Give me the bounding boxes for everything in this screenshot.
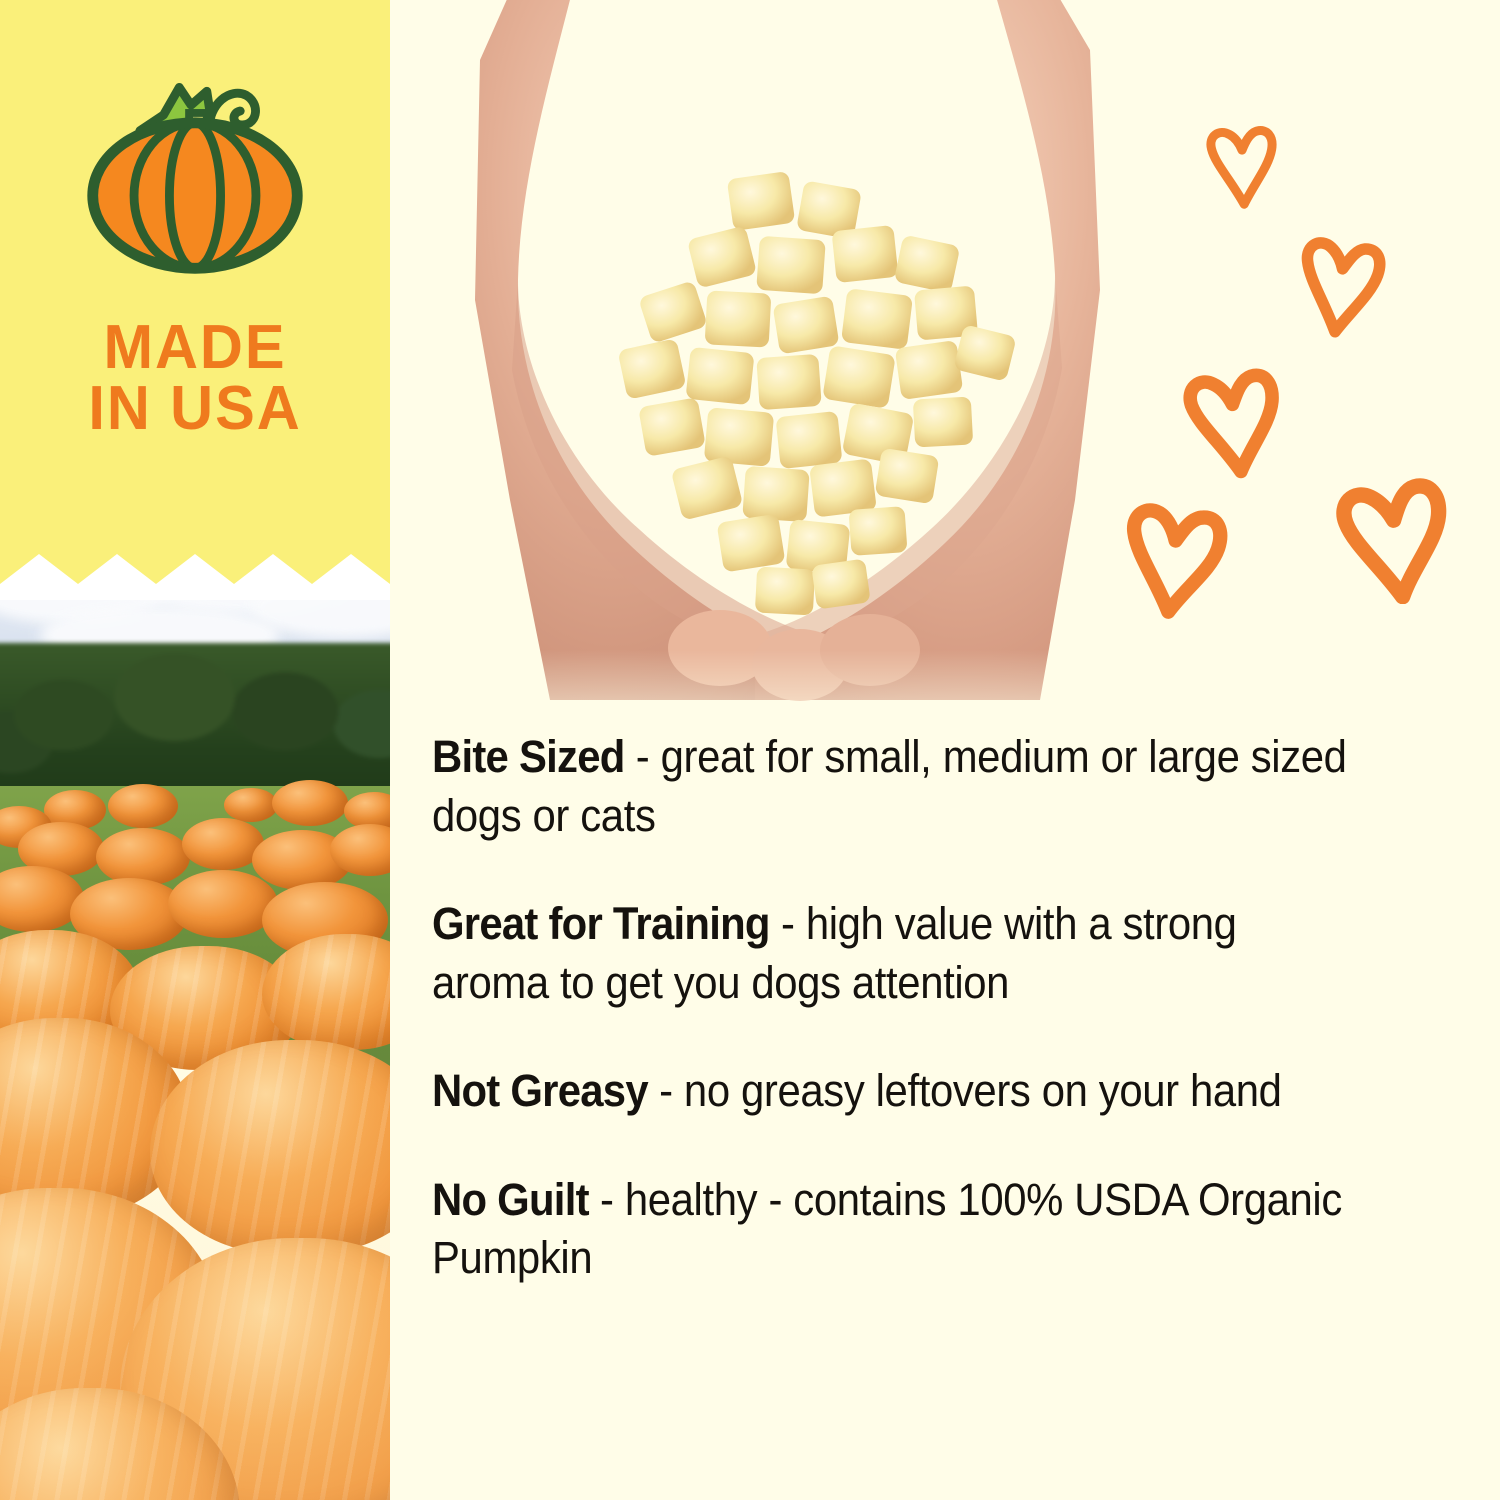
zigzag-divider — [0, 550, 390, 600]
bullet-item: No Guilt - healthy - contains 100% USDA … — [432, 1171, 1362, 1288]
heart-icon — [1292, 230, 1388, 338]
heart-icon — [1336, 472, 1454, 604]
bullet-rest: - no greasy leftovers on your hand — [648, 1065, 1282, 1116]
heart-decorations — [1110, 100, 1500, 680]
pumpkin — [96, 828, 190, 886]
product-feature-graphic: MADE IN USA — [0, 0, 1500, 1500]
bullet-lead: No Guilt — [432, 1174, 589, 1225]
hands-illustration — [400, 0, 1160, 710]
pumpkin — [108, 784, 178, 828]
pumpkin-icon — [77, 52, 313, 288]
pumpkin — [150, 1040, 390, 1255]
heart-icon — [1118, 496, 1228, 620]
hands-with-treats-photo — [400, 0, 1160, 710]
bullet-lead: Great for Training — [432, 898, 770, 949]
made-in-usa-badge: MADE IN USA — [0, 0, 390, 600]
badge-line-1: MADE — [8, 318, 382, 379]
bullet-item: Great for Training - high value with a s… — [432, 895, 1362, 1012]
badge-line-2: IN USA — [8, 379, 382, 440]
pumpkin — [168, 870, 278, 938]
pumpkin-patch-photo — [0, 548, 390, 1500]
bullet-lead: Bite Sized — [432, 731, 625, 782]
pumpkin — [224, 788, 278, 822]
bullet-item: Bite Sized - great for small, medium or … — [432, 728, 1362, 845]
badge-text: MADE IN USA — [8, 318, 382, 440]
bullet-item: Not Greasy - no greasy leftovers on your… — [432, 1062, 1362, 1121]
left-column: MADE IN USA — [0, 0, 390, 1500]
heart-icon — [1202, 118, 1284, 210]
feature-bullet-list: Bite Sized - great for small, medium or … — [432, 728, 1432, 1288]
pumpkin — [272, 780, 348, 826]
heart-icon — [1182, 362, 1286, 480]
bullet-lead: Not Greasy — [432, 1065, 648, 1116]
